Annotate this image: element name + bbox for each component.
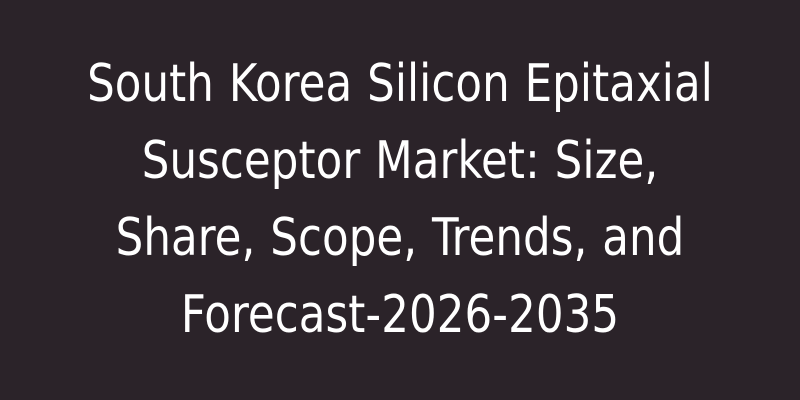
page-title: South Korea Silicon Epitaxial Susceptor … — [75, 46, 726, 354]
headline-line-2: Susceptor Market: Size, — [142, 131, 659, 191]
headline-line-1: South Korea Silicon Epitaxial — [87, 54, 713, 114]
headline-line-3: Share, Scope, Trends, and — [116, 208, 685, 268]
title-banner: South Korea Silicon Epitaxial Susceptor … — [0, 0, 800, 400]
headline-line-4: Forecast-2026-2035 — [181, 285, 619, 345]
